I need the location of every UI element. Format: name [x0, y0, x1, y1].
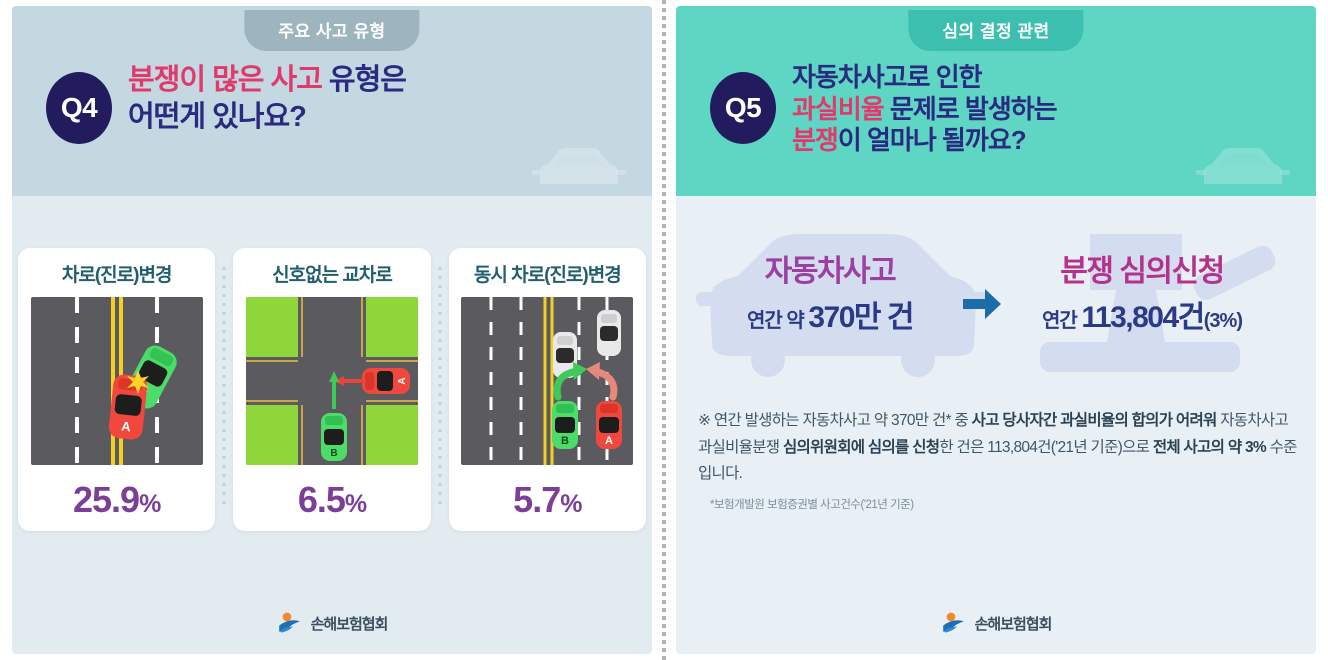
accident-type-card[interactable]: 신호없는 교차로	[233, 248, 430, 531]
panel-q4: 주요 사고 유형 Q4 분쟁이 많은 사고 유형은 어떤게 있나요?	[0, 0, 664, 660]
q4-body: 차로(진로)변경	[12, 196, 652, 654]
note-emphasis: 심의위원회에 심의를 신청	[783, 439, 939, 456]
q5-question-line-3: 분쟁이 얼마나 될까요?	[792, 125, 1057, 157]
card-percentage: 6.5%	[243, 479, 420, 521]
q5-question-rest-2: 문제로 발생하는	[884, 94, 1057, 124]
q5-number-bubble: Q5	[710, 72, 776, 144]
accident-type-card[interactable]: 차로(진로)변경	[18, 248, 215, 531]
q5-question-line-1: 자동차사고로 인한	[792, 62, 1057, 94]
q4-number-bubble: Q4	[46, 72, 112, 144]
q5-question-row: Q5 자동차사고로 인한 과실비율 문제로 발생하는 분쟁이 얼마나 될까요?	[710, 62, 1057, 157]
association-logo-icon	[941, 610, 967, 636]
card-percentage: 25.9%	[28, 479, 205, 521]
note-text: ※ 연간 발생하는 자동차사고 약 370만 건* 중	[698, 412, 972, 429]
lane-change-diagram: B A	[31, 297, 203, 465]
note-emphasis: 사고 당사자간 과실비율의 합의가 어려워	[972, 412, 1217, 429]
q5-body: 자동차사고 연간 약 370만 건 분쟁 심의신청 연간 113,804건(3%…	[676, 196, 1316, 654]
stat-right-number: 113,804	[1081, 301, 1177, 334]
card-percentage-value: 25.9	[73, 479, 139, 520]
stat-left-suffix: 건	[880, 301, 913, 334]
infographic-sheet: 주요 사고 유형 Q4 분쟁이 많은 사고 유형은 어떤게 있나요?	[0, 0, 1328, 660]
source-footnote: *보험개발원 보험증권별 사고건수('21년 기준)	[710, 496, 914, 512]
accident-type-card-list: 차로(진로)변경	[12, 248, 652, 531]
q4-question-text: 분쟁이 많은 사고 유형은 어떤게 있나요?	[128, 62, 406, 136]
card-percentage-unit: %	[345, 490, 366, 518]
stat-right-percent: (3%)	[1204, 310, 1242, 332]
stat-right-suffix: 건	[1178, 301, 1204, 334]
association-logo: 손해보험협회	[941, 610, 1052, 636]
svg-text:B: B	[561, 435, 569, 447]
q5-question-highlight-2: 분쟁	[792, 125, 838, 155]
card-percentage: 5.7%	[459, 479, 636, 521]
card-percentage-value: 5.7	[513, 479, 560, 520]
card-percentage-value: 6.5	[298, 479, 345, 520]
stat-right-prefix: 연간	[1042, 310, 1081, 332]
explanatory-note: ※ 연간 발생하는 자동차사고 약 370만 건* 중 사고 당사자간 과실비율…	[698, 408, 1304, 488]
stat-left-prefix: 연간 약	[747, 310, 808, 332]
statistics-section: 자동차사고 연간 약 370만 건 분쟁 심의신청 연간 113,804건(3%…	[676, 224, 1316, 414]
q5-question-rest-3: 이 얼마나 될까요?	[838, 125, 1026, 155]
q4-question-line-1: 분쟁이 많은 사고 유형은	[128, 62, 406, 99]
stat-auto-accidents-value: 연간 약 370만 건	[692, 292, 968, 336]
accident-type-card[interactable]: 동시 차로(진로)변경	[449, 248, 646, 531]
stat-dispute-applications: 분쟁 심의신청 연간 113,804건(3%)	[976, 246, 1308, 336]
simultaneous-lane-change-diagram: B A	[461, 297, 633, 465]
association-logo-text: 손해보험협회	[311, 613, 388, 634]
panel-divider	[662, 0, 666, 660]
association-logo-icon	[277, 610, 303, 636]
association-logo: 손해보험협회	[277, 610, 388, 636]
stat-auto-accidents-title: 자동차사고	[692, 246, 968, 290]
q4-question-row: Q4 분쟁이 많은 사고 유형은 어떤게 있나요?	[46, 62, 406, 144]
stat-dispute-value: 연간 113,804건(3%)	[976, 292, 1308, 336]
q4-question-line-2: 어떤게 있나요?	[128, 99, 406, 136]
svg-text:A: A	[397, 377, 408, 384]
note-emphasis: 전체 사고의 약 3%	[1153, 439, 1266, 456]
q5-category-badge: 심의 결정 관련	[908, 10, 1083, 51]
panel-q5: 심의 결정 관련 Q5 자동차사고로 인한 과실비율 문제로 발생하는 분쟁이 …	[664, 0, 1328, 660]
panel-q4-inner: 주요 사고 유형 Q4 분쟁이 많은 사고 유형은 어떤게 있나요?	[12, 6, 652, 654]
stat-auto-accidents: 자동차사고 연간 약 370만 건	[692, 246, 968, 336]
card-divider	[437, 264, 443, 509]
card-percentage-unit: %	[139, 490, 160, 518]
q4-header: 주요 사고 유형 Q4 분쟁이 많은 사고 유형은 어떤게 있나요?	[12, 6, 652, 196]
q4-category-badge: 주요 사고 유형	[244, 10, 419, 51]
association-logo-text: 손해보험협회	[975, 613, 1052, 634]
q5-question-line-2: 과실비율 문제로 발생하는	[792, 94, 1057, 126]
svg-text:B: B	[330, 448, 337, 459]
q5-question-highlight-1: 과실비율	[792, 94, 884, 124]
q5-question-text: 자동차사고로 인한 과실비율 문제로 발생하는 분쟁이 얼마나 될까요?	[792, 62, 1057, 157]
note-text: 한 건은 113,804건('21년 기준)으로	[939, 439, 1152, 456]
unsignaled-intersection-diagram: A B	[246, 297, 418, 465]
q5-header: 심의 결정 관련 Q5 자동차사고로 인한 과실비율 문제로 발생하는 분쟁이 …	[676, 6, 1316, 196]
car-watermark-icon	[1190, 144, 1294, 196]
card-percentage-unit: %	[560, 490, 581, 518]
card-title: 동시 차로(진로)변경	[459, 260, 636, 287]
q4-question-rest: 유형은	[322, 64, 406, 96]
svg-text:A: A	[605, 435, 613, 447]
stat-left-number: 370만	[808, 301, 880, 334]
panel-q5-inner: 심의 결정 관련 Q5 자동차사고로 인한 과실비율 문제로 발생하는 분쟁이 …	[676, 6, 1316, 654]
car-watermark-icon	[526, 144, 630, 196]
card-title: 차로(진로)변경	[28, 260, 205, 287]
stat-dispute-title: 분쟁 심의신청	[976, 246, 1308, 290]
card-divider	[221, 264, 227, 509]
q4-question-highlight: 분쟁이 많은 사고	[128, 64, 322, 96]
card-title: 신호없는 교차로	[243, 260, 420, 287]
